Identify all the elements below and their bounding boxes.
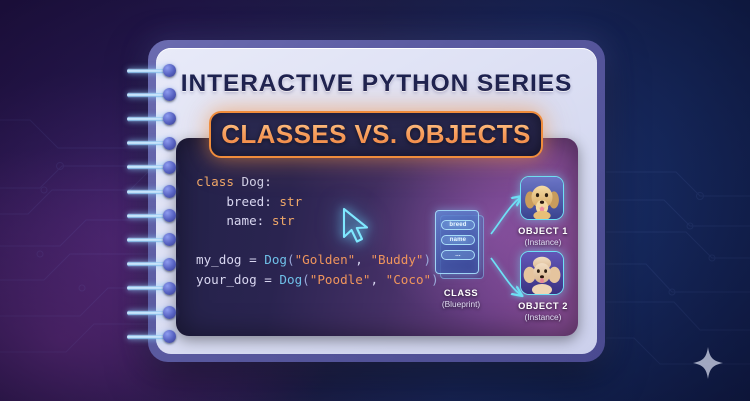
code-token: your_dog [196, 272, 264, 287]
mouse-pointer-icon [340, 206, 374, 246]
blueprint-front-sheet: breed name ... [435, 210, 479, 274]
spiral-ring [163, 185, 176, 198]
code-token [196, 233, 204, 248]
code-token: Dog [279, 272, 302, 287]
code-token: "Poodle" [310, 272, 371, 287]
code-line: breed: str [196, 192, 439, 212]
object-2-thumbnail [520, 251, 564, 295]
spiral-ring [163, 282, 176, 295]
code-token: ( [287, 252, 295, 267]
code-line: my_dog = Dog("Golden", "Buddy") [196, 250, 439, 270]
class-label: CLASS [425, 288, 497, 298]
code-token: my_dog [196, 252, 249, 267]
object-1-thumbnail [520, 176, 564, 220]
spiral-ring [163, 258, 176, 271]
code-token: "Golden" [295, 252, 356, 267]
code-token: breed [196, 194, 264, 209]
code-token: : [264, 194, 279, 209]
code-token: str [272, 213, 295, 228]
golden-retriever-photo [521, 177, 563, 219]
code-line [196, 231, 439, 251]
code-token: = [264, 272, 279, 287]
code-token: ( [302, 272, 310, 287]
code-line: name: str [196, 211, 439, 231]
code-token: : [264, 174, 272, 189]
code-token: , [355, 252, 370, 267]
code-line: your_dog = Dog("Poodle", "Coco") [196, 270, 439, 290]
object-2-label: OBJECT 2 [508, 301, 578, 311]
object-1-label: OBJECT 1 [508, 226, 578, 236]
code-token: = [249, 252, 264, 267]
object-2-sublabel: (Instance) [508, 312, 578, 322]
sparkle-icon [693, 347, 723, 379]
spiral-ring [163, 306, 176, 319]
topic-badge: CLASSES VS. OBJECTS [209, 111, 543, 158]
code-token: class [196, 174, 242, 189]
class-blueprint-card: breed name ... [435, 210, 487, 282]
topic-badge-label: CLASSES VS. OBJECTS [221, 119, 531, 150]
code-token: "Buddy" [370, 252, 423, 267]
code-token: Dog [264, 252, 287, 267]
code-token: name [196, 213, 257, 228]
code-token: Dog [242, 174, 265, 189]
class-object-diagram: breed name ... CLASS (Blueprint) [425, 168, 590, 333]
code-block: class Dog: breed: str name: str my_dog =… [196, 172, 439, 289]
spiral-ring [163, 64, 176, 77]
code-token: : [257, 213, 272, 228]
spiral-ring [163, 137, 176, 150]
spiral-ring [163, 161, 176, 174]
code-token: str [279, 194, 302, 209]
poodle-photo [521, 252, 563, 294]
blueprint-row-name: name [441, 235, 475, 245]
code-token: , [370, 272, 385, 287]
blueprint-row-breed: breed [441, 220, 475, 230]
object-1-sublabel: (Instance) [508, 237, 578, 247]
blueprint-row-ellipsis: ... [441, 250, 475, 260]
page-title: INTERACTIVE PYTHON SERIES [156, 70, 597, 98]
class-sublabel: (Blueprint) [425, 299, 497, 309]
code-line: class Dog: [196, 172, 439, 192]
